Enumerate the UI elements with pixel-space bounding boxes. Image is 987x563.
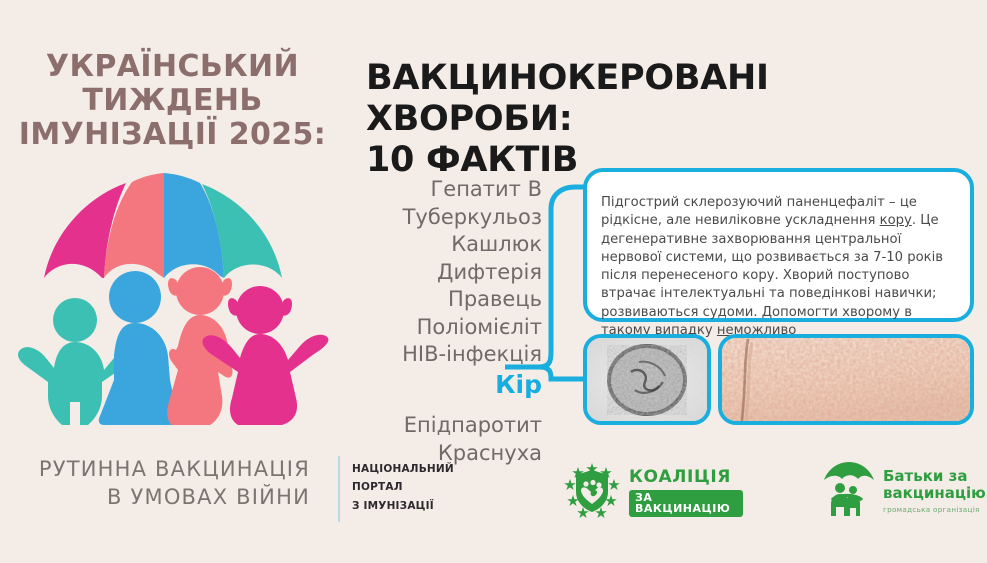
campaign-title: УКРАЇНСЬКИЙ ТИЖДЕНЬ ІМУНІЗАЦІЇ 2025: <box>0 50 345 152</box>
footer-slogan-line-1: РУТИННА ВАКЦИНАЦІЯ <box>0 455 310 483</box>
poster-canvas: УКРАЇНСЬКИЙ ТИЖДЕНЬ ІМУНІЗАЦІЇ 2025: <box>0 0 987 563</box>
measles-fact-callout-box: Підгострий склерозуючий паненцефаліт – ц… <box>583 168 974 322</box>
page-title-line-1: ВАКЦИНОКЕРОВАНІ ХВОРОБИ: <box>366 58 980 140</box>
left-column: УКРАЇНСЬКИЙ ТИЖДЕНЬ ІМУНІЗАЦІЇ 2025: <box>0 0 345 563</box>
umbrella-family-illustration <box>18 170 330 425</box>
portal-line-3: З ІМУНІЗАЦІЇ <box>352 497 454 515</box>
portal-line-2: ПОРТАЛ <box>352 478 454 496</box>
coalition-subtitle: ЗА ВАКЦИНАЦІЮ <box>629 490 743 517</box>
parents-line-2: вакцинацію <box>883 485 986 502</box>
parents-subtitle: громадська організація <box>883 505 986 514</box>
campaign-title-line-1: УКРАЇНСЬКИЙ <box>0 50 345 84</box>
campaign-title-line-3: ІМУНІЗАЦІЇ 2025: <box>0 118 345 152</box>
portal-divider-line <box>338 456 340 522</box>
parents-umbrella-family-icon <box>820 460 876 522</box>
fact-text-part-2: . Це дегенеративне захворювання централь… <box>601 213 943 337</box>
measles-fact-text: Підгострий склерозуючий паненцефаліт – ц… <box>601 194 957 340</box>
coalition-logo-text: КОАЛІЦІЯ ЗА ВАКЦИНАЦІЮ <box>629 469 743 517</box>
footer-slogan-line-2: В УМОВАХ ВІЙНИ <box>0 483 310 511</box>
fact-text-part-1: Підгострий склерозуючий паненцефаліт – ц… <box>601 195 917 228</box>
coalition-word: КОАЛІЦІЯ <box>629 469 743 486</box>
fact-underlined-kory: кору <box>880 213 912 228</box>
page-title: ВАКЦИНОКЕРОВАНІ ХВОРОБИ: 10 ФАКТІВ <box>366 58 980 181</box>
measles-rash-skin-photo <box>718 334 974 425</box>
parents-logo-text: Батьки за вакцинацію громадська організа… <box>883 468 986 514</box>
footer-slogan: РУТИННА ВАКЦИНАЦІЯ В УМОВАХ ВІЙНИ <box>0 455 310 512</box>
coalition-shield-icon <box>563 462 621 524</box>
parents-line-1: Батьки за <box>883 468 986 485</box>
measles-virus-micrograph-photo <box>583 334 711 425</box>
parents-for-vaccination-logo: Батьки за вакцинацію громадська організа… <box>820 458 985 524</box>
campaign-title-line-2: ТИЖДЕНЬ <box>0 84 345 118</box>
coalition-for-vaccination-logo: КОАЛІЦІЯ ЗА ВАКЦИНАЦІЮ <box>563 462 743 524</box>
disease-item-rubella: Краснуха <box>352 440 542 468</box>
disease-item-mumps: Епідпаротит <box>352 412 542 440</box>
